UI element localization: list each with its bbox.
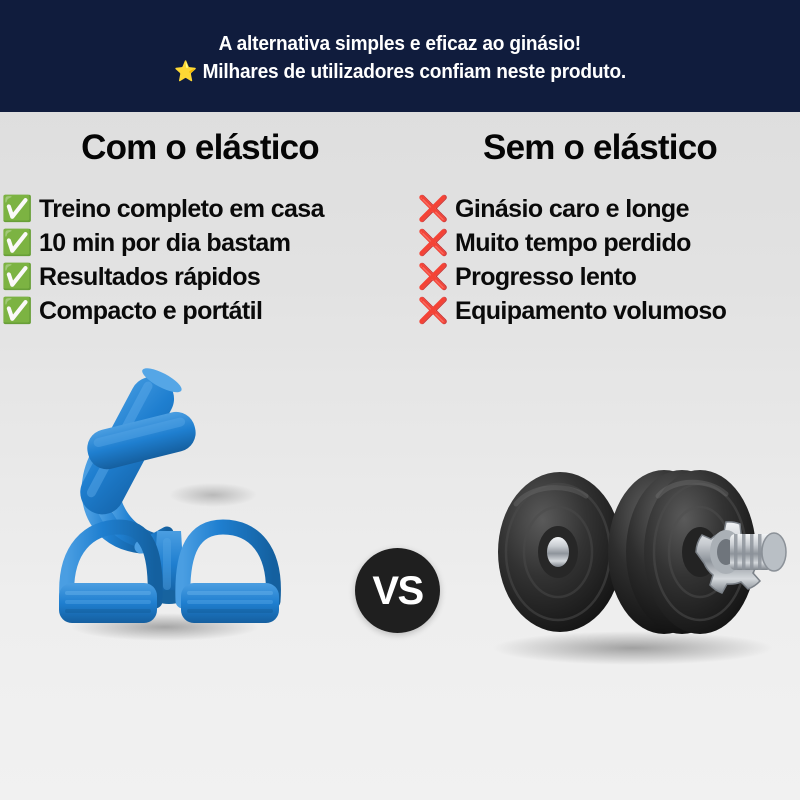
list-item: ✅ 10 min por dia bastam (3, 226, 324, 260)
vs-badge: VS (355, 548, 440, 633)
list-item-label: Ginásio caro e longe (455, 195, 689, 223)
list-item: ✅ Treino completo em casa (3, 192, 324, 226)
list-item-label: 10 min por dia bastam (39, 229, 290, 257)
cross-icon: ❌ (419, 265, 447, 290)
column-title-with-band: Com o elástico (0, 127, 400, 169)
header-line-1: A alternativa simples e eficaz ao ginási… (219, 30, 581, 58)
list-item-label: Treino completo em casa (39, 195, 324, 223)
list-item-label: Equipamento volumoso (455, 297, 726, 325)
cons-list: ❌ Ginásio caro e longe ❌ Muito tempo per… (419, 192, 726, 328)
product-image-resistance-band (45, 335, 315, 645)
cross-icon: ❌ (419, 299, 447, 324)
list-item-label: Muito tempo perdido (455, 229, 691, 257)
list-item: ❌ Ginásio caro e longe (419, 192, 726, 226)
vs-label: VS (372, 571, 422, 611)
screw-thread (730, 533, 786, 571)
comparison-infographic: A alternativa simples e eficaz ao ginási… (0, 0, 800, 800)
list-item: ✅ Compacto e portátil (3, 294, 324, 328)
cross-icon: ❌ (419, 197, 447, 222)
pros-list: ✅ Treino completo em casa ✅ 10 min por d… (3, 192, 324, 328)
check-icon: ✅ (3, 197, 31, 222)
check-icon: ✅ (3, 299, 31, 324)
list-item: ✅ Resultados rápidos (3, 260, 324, 294)
list-item: ❌ Progresso lento (419, 260, 726, 294)
header-line-2-wrap: ⭐ Milhares de utilizadores confiam neste… (174, 58, 626, 86)
header-banner: A alternativa simples e eficaz ao ginási… (0, 0, 800, 112)
product-image-dumbbell (468, 448, 800, 670)
check-icon: ✅ (3, 231, 31, 256)
check-icon: ✅ (3, 265, 31, 290)
resistance-band-illustration (45, 335, 315, 645)
list-item-label: Progresso lento (455, 263, 636, 291)
column-title-without-band: Sem o elástico (400, 127, 800, 169)
cross-icon: ❌ (419, 231, 447, 256)
list-item-label: Resultados rápidos (39, 263, 260, 291)
list-item: ❌ Muito tempo perdido (419, 226, 726, 260)
list-item-label: Compacto e portátil (39, 297, 262, 325)
dumbbell-illustration (468, 448, 800, 670)
list-item: ❌ Equipamento volumoso (419, 294, 726, 328)
star-icon: ⭐ (174, 62, 197, 82)
header-line-2: Milhares de utilizadores confiam neste p… (203, 58, 626, 86)
